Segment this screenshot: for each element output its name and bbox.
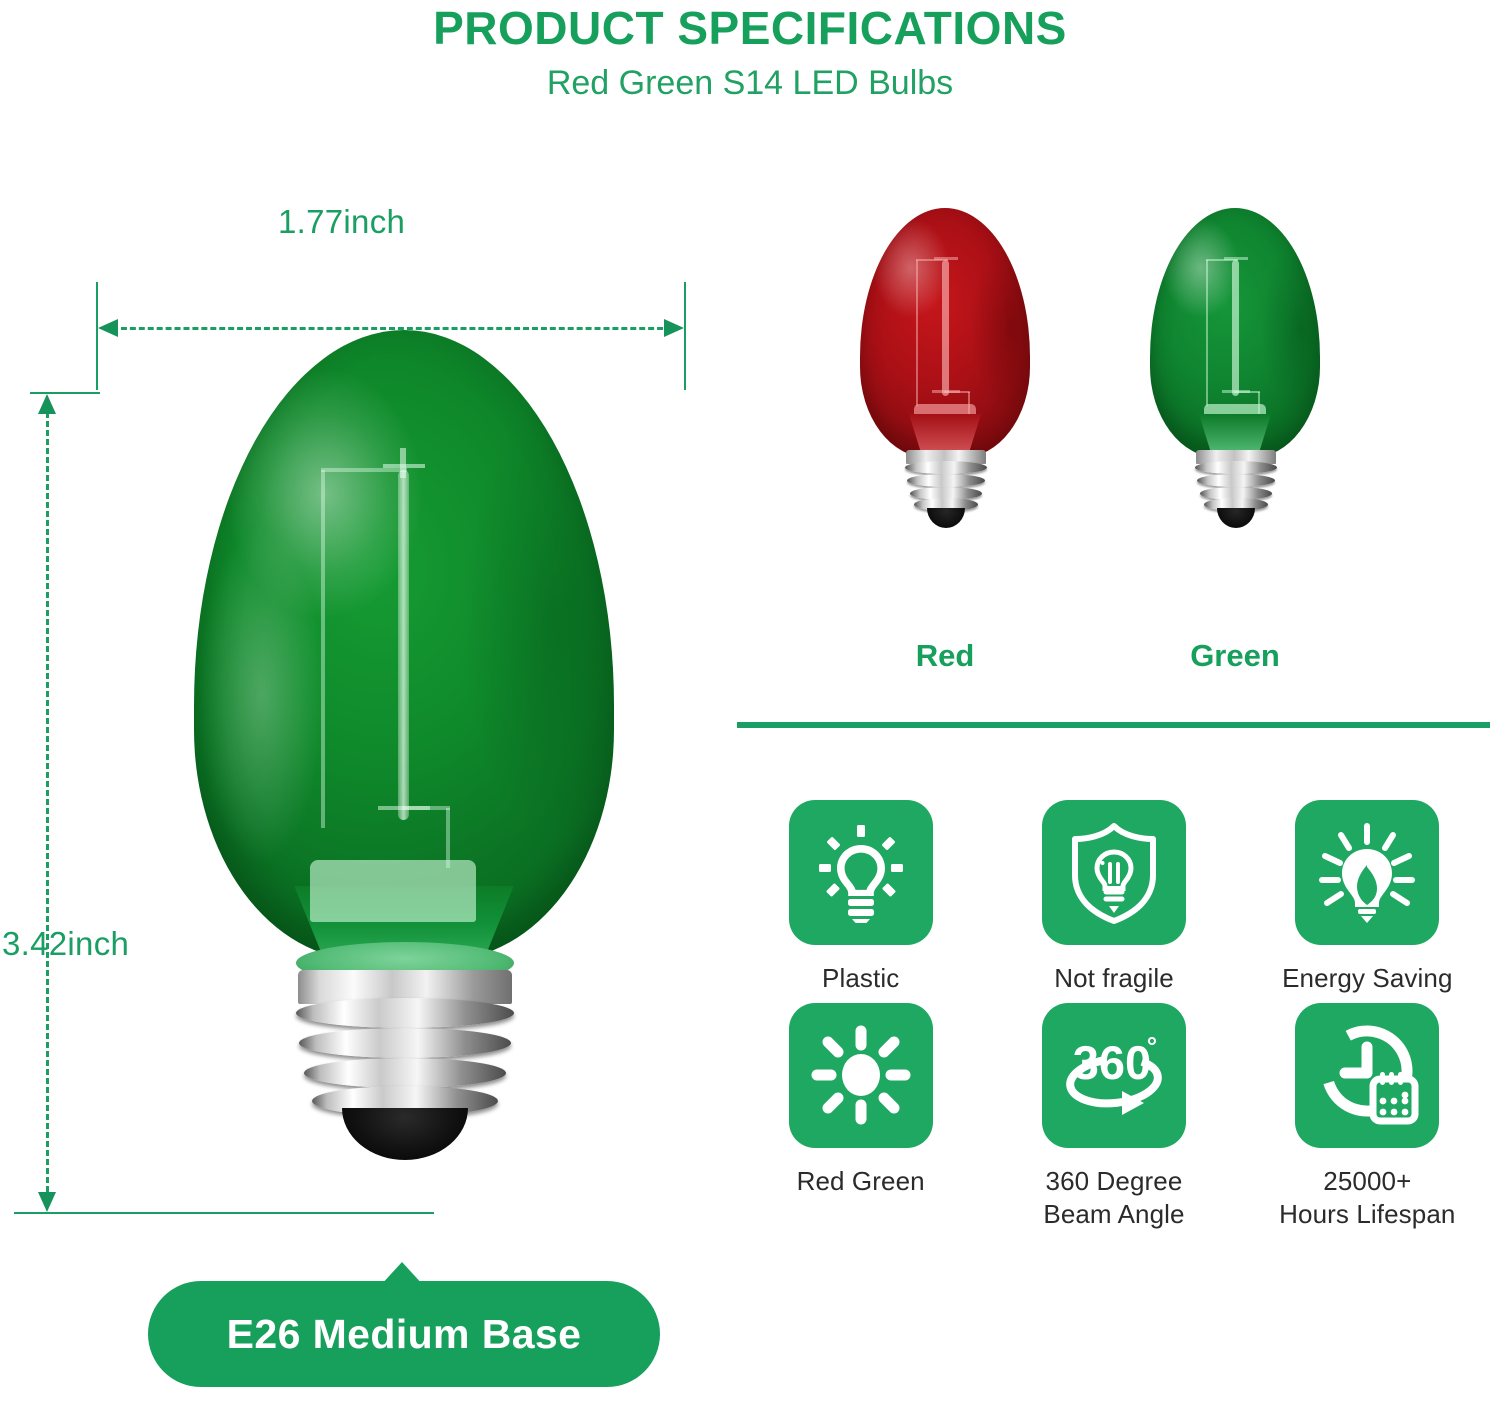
mini-screw-thread bbox=[1195, 461, 1277, 474]
feature-label: Not fragile bbox=[1054, 962, 1174, 995]
width-arrow-right bbox=[664, 319, 684, 337]
feature-item: Red Green bbox=[734, 1003, 987, 1231]
filament-crossbar-top bbox=[383, 464, 425, 468]
feature-label: 25000+Hours Lifespan bbox=[1279, 1165, 1455, 1231]
screw-thread bbox=[299, 1028, 511, 1058]
feature-item: 25000+Hours Lifespan bbox=[1241, 1003, 1494, 1231]
dimension-diagram: 1.77inch 3.42inch bbox=[0, 0, 720, 1409]
mini-filament-rod bbox=[1232, 260, 1239, 396]
shield-bulb-icon bbox=[1042, 800, 1186, 945]
clock-calendar-icon bbox=[1295, 1003, 1439, 1148]
height-dimension-line bbox=[46, 412, 49, 1192]
sun-brightness-icon bbox=[789, 1003, 933, 1148]
width-tick-right bbox=[684, 282, 686, 390]
mini-screw-thread bbox=[905, 461, 987, 474]
degree-value-text: 360 bbox=[1073, 1036, 1151, 1089]
variant-bulb-red bbox=[860, 208, 1030, 458]
mini-filament-wire-bottom bbox=[944, 391, 970, 393]
e26-base-badge: E26 Medium Base bbox=[148, 1281, 660, 1387]
feature-label: 360 DegreeBeam Angle bbox=[1043, 1165, 1184, 1231]
mini-e26-screw-base bbox=[1194, 450, 1278, 524]
feature-item: 360 ° 360 DegreeBeam Angle bbox=[987, 1003, 1240, 1231]
width-dimension-label: 1.77inch bbox=[278, 203, 405, 241]
leaf-bulb-icon bbox=[1295, 800, 1439, 945]
e26-screw-base bbox=[294, 970, 516, 1150]
feature-label: Energy Saving bbox=[1282, 962, 1452, 995]
feature-item: Not fragile bbox=[987, 800, 1240, 995]
mini-filament-wire-left bbox=[1206, 260, 1208, 406]
filament-support-wire-right bbox=[446, 808, 450, 868]
height-arrow-down bbox=[38, 1192, 56, 1212]
height-arrow-up bbox=[38, 394, 56, 414]
width-arrow-left bbox=[98, 319, 118, 337]
screw-thread bbox=[304, 1058, 506, 1088]
mini-filament-wire-bottom bbox=[1234, 391, 1260, 393]
main-bulb-illustration bbox=[170, 330, 640, 1230]
filament-support-wire-top bbox=[321, 468, 407, 472]
variant-bulb-green bbox=[1150, 208, 1320, 458]
variant-label-green: Green bbox=[1125, 638, 1345, 674]
filament-rod bbox=[398, 470, 409, 820]
mini-screw-contact-tip bbox=[1217, 508, 1255, 528]
mini-e26-screw-base bbox=[904, 450, 988, 524]
filament-crossbar-bottom bbox=[378, 806, 430, 810]
feature-item: Energy Saving bbox=[1241, 800, 1494, 995]
screw-contact-tip bbox=[342, 1108, 468, 1160]
section-divider bbox=[737, 722, 1490, 728]
filament-mount-plate bbox=[310, 860, 476, 922]
degree-symbol-text: ° bbox=[1147, 1031, 1157, 1061]
feature-label: Plastic bbox=[822, 962, 899, 995]
feature-grid: Plastic Not fragile bbox=[734, 800, 1494, 1230]
feature-item: Plastic bbox=[734, 800, 987, 995]
mini-screw-thread bbox=[907, 474, 985, 487]
right-panel: Red Green bbox=[720, 0, 1500, 1409]
filament-support-wire-left bbox=[321, 470, 325, 828]
mini-screw-thread bbox=[1197, 474, 1275, 487]
bulb-rays-icon bbox=[789, 800, 933, 945]
feature-label: Red Green bbox=[797, 1165, 925, 1198]
screw-thread bbox=[296, 998, 514, 1028]
mini-filament-wire-left bbox=[916, 260, 918, 406]
mini-screw-contact-tip bbox=[927, 508, 965, 528]
360-degree-icon: 360 ° bbox=[1042, 1003, 1186, 1148]
height-dimension-label: 3.42inch bbox=[2, 925, 129, 963]
mini-filament-rod bbox=[942, 260, 949, 396]
e26-base-badge-label: E26 Medium Base bbox=[227, 1311, 582, 1358]
variant-label-red: Red bbox=[835, 638, 1055, 674]
product-specification-infographic: PRODUCT SPECIFICATIONS Red Green S14 LED… bbox=[0, 0, 1500, 1409]
